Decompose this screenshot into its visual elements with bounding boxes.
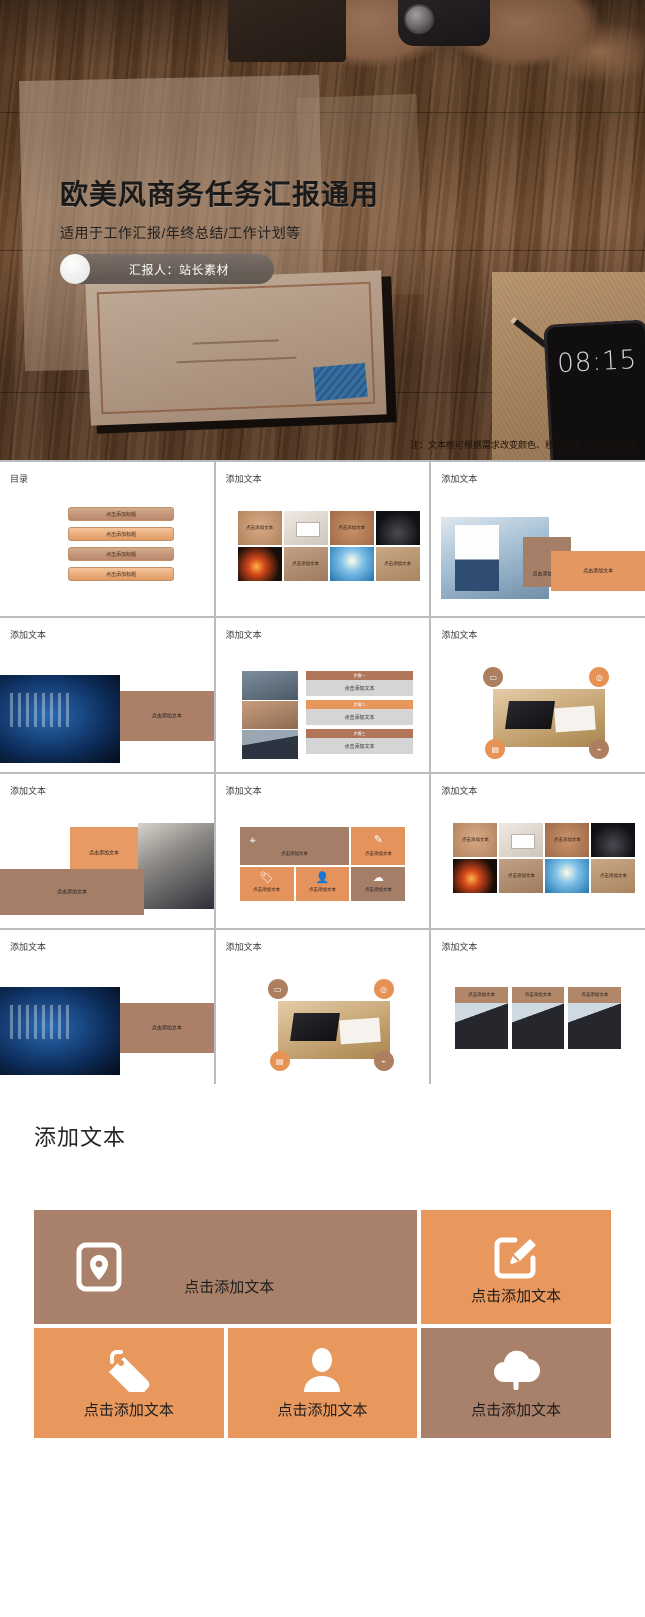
- mosaic-cell[interactable]: [238, 547, 282, 581]
- slide-thumbnail-3[interactable]: 添加文本 点击添加文本 点击添加文本: [431, 462, 645, 616]
- mosaic-label: 点击添加文本: [462, 837, 489, 843]
- text-box-orange[interactable]: 点击添加文本: [551, 551, 645, 591]
- slide-body: 点击添加文本: [10, 645, 204, 767]
- slide-thumbnail-12[interactable]: 添加文本 点击添加文本 点击添加文本 点击添加文本: [431, 930, 645, 1084]
- card-photo: [455, 1003, 508, 1049]
- slide-title: 添加文本: [10, 628, 204, 641]
- photo-mosaic: 点击添加文本 点击添加文本 点击添加文本 点击添加文本: [238, 511, 420, 581]
- text-box-label: 点击添加文本: [152, 713, 182, 720]
- mosaic-cell[interactable]: [499, 823, 543, 857]
- slide-body: 点击添加标题 点击添加标题 点击添加标题 点击添加标题: [10, 489, 204, 611]
- slide-title: 添加文本: [226, 784, 420, 797]
- slide-body: 点击添加文本 点击添加文本 点击添加文本 点击添加文本: [226, 489, 420, 611]
- mosaic-cell[interactable]: 点击添加文本: [545, 823, 589, 857]
- mosaic-cell[interactable]: [330, 547, 374, 581]
- feature-tile-cloud[interactable]: 点击添加文本: [421, 1328, 611, 1438]
- slide-thumbnail-5[interactable]: 添加文本 步骤一 点击添加文本 步骤二 点击添加文本 步骤三 点击添加文本: [216, 618, 430, 772]
- mosaic-cell[interactable]: 点击添加文本: [499, 859, 543, 893]
- slide-thumbnail-2[interactable]: 添加文本 点击添加文本 点击添加文本 点击添加文本 点击添加文本: [216, 462, 430, 616]
- mosaic-cell[interactable]: [545, 859, 589, 893]
- mosaic-label: 点击添加文本: [246, 525, 273, 531]
- location-pin-icon: [76, 1242, 122, 1292]
- hero-text-block: 欧美风商务任务汇报通用 适用于工作汇报/年终总结/工作计划等: [60, 180, 379, 243]
- step-header: 步骤二: [306, 700, 414, 709]
- icon-tile-grid: ⌖ 点击添加文本 ✎ 点击添加文本 🏷 点击添加文本 👤 点击添加文本 ☁: [240, 827, 406, 901]
- feature-tile-label: 点击添加文本: [277, 1399, 367, 1420]
- slide-thumbnail-grid: 目录 点击添加标题 点击添加标题 点击添加标题 点击添加标题 添加文本 点击添加…: [0, 460, 645, 1084]
- slide-thumbnail-8[interactable]: 添加文本 ⌖ 点击添加文本 ✎ 点击添加文本 🏷 点击添加文本 👤 点击添加文本: [216, 774, 430, 928]
- edit-pencil-icon: [493, 1234, 539, 1280]
- card-photo: [512, 1003, 565, 1049]
- tile-label: 点击添加文本: [351, 887, 405, 893]
- tag-icon: [107, 1346, 151, 1392]
- reporter-label: 汇报人：站长素材: [90, 261, 274, 278]
- catalog-button[interactable]: 点击添加标题: [68, 507, 174, 521]
- tile-user[interactable]: 👤 点击添加文本: [296, 867, 350, 901]
- location-pin-icon: ⌖: [250, 835, 256, 848]
- slide-title: 添加文本: [226, 940, 420, 953]
- mosaic-label: 点击添加文本: [384, 561, 411, 567]
- mosaic-cell[interactable]: 点击添加文本: [284, 547, 328, 581]
- feature-tile-label: 点击添加文本: [84, 1399, 174, 1420]
- slide-title: 添加文本: [226, 628, 420, 641]
- cloud-upload-icon: [491, 1346, 541, 1390]
- chart-photo: [0, 675, 120, 763]
- step-header: 步骤三: [306, 729, 414, 738]
- hero-title: 欧美风商务任务汇报通用: [60, 180, 379, 211]
- slide-title: 目录: [10, 472, 204, 485]
- feature-tile-label: 点击添加文本: [184, 1276, 274, 1297]
- feature-tile-tag[interactable]: 点击添加文本: [34, 1328, 224, 1438]
- photo-card[interactable]: 点击添加文本: [512, 987, 565, 1049]
- step-body: 点击添加文本: [306, 738, 414, 754]
- mosaic-label: 点击添加文本: [292, 561, 319, 567]
- step-header: 步骤一: [306, 671, 414, 680]
- slide-body: 步骤一 点击添加文本 步骤二 点击添加文本 步骤三 点击添加文本: [226, 645, 420, 767]
- slide-title: 添加文本: [441, 628, 635, 641]
- catalog-button[interactable]: 点击添加标题: [68, 547, 174, 561]
- slide-body: 点击添加文本: [10, 957, 204, 1079]
- step-rows: 步骤一 点击添加文本 步骤二 点击添加文本 步骤三 点击添加文本: [306, 671, 414, 758]
- clock-icon[interactable]: ◎: [589, 667, 609, 687]
- mosaic-cell[interactable]: [453, 859, 497, 893]
- slide-body: 点击添加文本 点击添加文本: [10, 801, 204, 923]
- feature-section: 添加文本 点击添加文本 点击添加文本: [0, 1084, 645, 1438]
- slide-body: ⌖ 点击添加文本 ✎ 点击添加文本 🏷 点击添加文本 👤 点击添加文本 ☁: [226, 801, 420, 923]
- edit-pencil-icon: ✎: [374, 833, 383, 846]
- feature-tile-label: 点击添加文本: [471, 1399, 561, 1420]
- card-label: 点击添加文本: [568, 987, 621, 1003]
- slide-thumbnail-10[interactable]: 添加文本 点击添加文本: [0, 930, 214, 1084]
- feature-section-title: 添加文本: [34, 1120, 611, 1152]
- slide-body: ▭ ◎ ▤ ⌁: [441, 645, 635, 767]
- slide-title: 添加文本: [441, 784, 635, 797]
- slide-body: 点击添加文本 点击添加文本 点击添加文本: [441, 957, 635, 1079]
- text-box-label: 点击添加文本: [152, 1025, 182, 1032]
- slide-thumbnail-7[interactable]: 添加文本 点击添加文本 点击添加文本: [0, 774, 214, 928]
- reporter-avatar: [60, 254, 90, 284]
- slide-body: 点击添加文本 点击添加文本 点击添加文本 点击添加文本: [441, 801, 635, 923]
- mosaic-label: 点击添加文本: [508, 873, 535, 879]
- laptop-photo: [278, 1001, 390, 1059]
- slide-body: 点击添加文本 点击添加文本: [441, 489, 635, 611]
- catalog-button[interactable]: 点击添加标题: [68, 527, 174, 541]
- catalog-button[interactable]: 点击添加标题: [68, 567, 174, 581]
- user-icon: [300, 1346, 344, 1392]
- monitor-icon[interactable]: ▭: [483, 667, 503, 687]
- slide-thumbnail-1[interactable]: 目录 点击添加标题 点击添加标题 点击添加标题 点击添加标题: [0, 462, 214, 616]
- plug-icon[interactable]: ⌁: [374, 1051, 394, 1071]
- slide-body: ▭ ◎ ▤ ⌁: [226, 957, 420, 1079]
- tile-label: 点击添加文本: [351, 851, 405, 857]
- mosaic-cell[interactable]: [376, 511, 420, 545]
- plug-icon[interactable]: ⌁: [589, 739, 609, 759]
- hero-subtitle: 适用于工作汇报/年终总结/工作计划等: [60, 223, 379, 243]
- clock-icon[interactable]: ◎: [374, 979, 394, 999]
- slide-title: 添加文本: [10, 784, 204, 797]
- card-label: 点击添加文本: [455, 987, 508, 1003]
- mosaic-label: 点击添加文本: [600, 873, 627, 879]
- slide-title: 添加文本: [226, 472, 420, 485]
- monitor-icon[interactable]: ▭: [268, 979, 288, 999]
- tile-tag[interactable]: 🏷 点击添加文本: [240, 867, 294, 901]
- mosaic-cell[interactable]: 点击添加文本: [238, 511, 282, 545]
- feature-tile-location[interactable]: 点击添加文本: [34, 1210, 417, 1324]
- photo-card[interactable]: 点击添加文本: [568, 987, 621, 1049]
- mosaic-label: 点击添加文本: [554, 837, 581, 843]
- reporter-pill[interactable]: 汇报人：站长素材: [60, 254, 274, 284]
- feature-tile-label: 点击添加文本: [471, 1285, 561, 1306]
- slide-title: 添加文本: [441, 940, 635, 953]
- text-box-label: 点击添加文本: [89, 850, 119, 857]
- chart-photo: [0, 987, 120, 1075]
- step-row[interactable]: 步骤一 点击添加文本: [306, 671, 414, 696]
- feature-tile-edit[interactable]: 点击添加文本: [421, 1210, 611, 1324]
- mosaic-cell[interactable]: 点击添加文本: [591, 859, 635, 893]
- slide-title: 添加文本: [441, 472, 635, 485]
- photo-card[interactable]: 点击添加文本: [455, 987, 508, 1049]
- tile-cloud[interactable]: ☁ 点击添加文本: [351, 867, 405, 901]
- hero-banner: 08:15 欧美风商务任务汇报通用 适用于工作汇报/年终总结/工作计划等 汇报人…: [0, 0, 645, 460]
- tile-location[interactable]: ⌖ 点击添加文本: [240, 827, 350, 865]
- card-row: 点击添加文本 点击添加文本 点击添加文本: [455, 987, 621, 1049]
- text-box-label: 点击添加文本: [583, 568, 613, 575]
- tablet-icon[interactable]: ▤: [485, 739, 505, 759]
- tile-label: 点击添加文本: [240, 851, 350, 857]
- mosaic-cell[interactable]: 点击添加文本: [376, 547, 420, 581]
- feature-tile-user[interactable]: 点击添加文本: [228, 1328, 418, 1438]
- text-box-brown[interactable]: 点击添加文本: [0, 869, 144, 915]
- mosaic-cell[interactable]: 点击添加文本: [453, 823, 497, 857]
- mosaic-label: 点击添加文本: [338, 525, 365, 531]
- step-photo-stack: [242, 671, 298, 759]
- mosaic-cell[interactable]: 点击添加文本: [330, 511, 374, 545]
- tile-label: 点击添加文本: [240, 887, 294, 893]
- tile-label: 点击添加文本: [296, 887, 350, 893]
- user-icon: 👤: [316, 871, 330, 884]
- tile-edit[interactable]: ✎ 点击添加文本: [351, 827, 405, 865]
- slide-thumbnail-9[interactable]: 添加文本 点击添加文本 点击添加文本 点击添加文本 点击添加文本: [431, 774, 645, 928]
- card-photo: [568, 1003, 621, 1049]
- slide-thumbnail-6[interactable]: 添加文本 ▭ ◎ ▤ ⌁: [431, 618, 645, 772]
- slide-thumbnail-11[interactable]: 添加文本 ▭ ◎ ▤ ⌁: [216, 930, 430, 1084]
- step-body: 点击添加文本: [306, 680, 414, 696]
- step-body: 点击添加文本: [306, 709, 414, 725]
- photo-mosaic: 点击添加文本 点击添加文本 点击添加文本 点击添加文本: [453, 823, 635, 893]
- text-box-label: 点击添加文本: [57, 889, 87, 896]
- tablet-icon[interactable]: ▤: [270, 1051, 290, 1071]
- slide-title: 添加文本: [10, 940, 204, 953]
- applause-photo: [138, 823, 214, 909]
- card-label: 点击添加文本: [512, 987, 565, 1003]
- step-row[interactable]: 步骤二 点击添加文本: [306, 700, 414, 725]
- mosaic-cell[interactable]: [591, 823, 635, 857]
- feature-tile-grid: 点击添加文本 点击添加文本 点击添加文本: [34, 1210, 611, 1438]
- cloud-upload-icon: ☁: [373, 871, 384, 884]
- step-row[interactable]: 步骤三 点击添加文本: [306, 729, 414, 754]
- laptop-photo: [493, 689, 605, 747]
- tag-icon: 🏷: [260, 871, 274, 884]
- hero-note: 注：文本框可根据需求改变颜色、移动位置；文字可编辑: [410, 438, 635, 451]
- slide-thumbnail-4[interactable]: 添加文本 点击添加文本: [0, 618, 214, 772]
- mosaic-cell[interactable]: [284, 511, 328, 545]
- text-box-brown[interactable]: 点击添加文本: [120, 691, 214, 741]
- text-box-brown[interactable]: 点击添加文本: [120, 1003, 214, 1053]
